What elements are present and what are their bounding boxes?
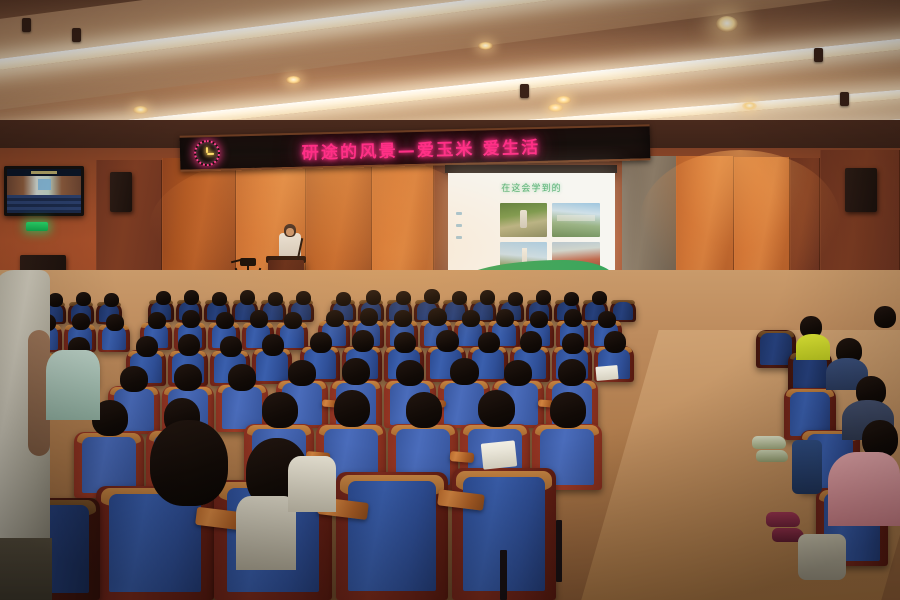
- audience-head: [394, 310, 412, 327]
- led-clock-icon: [194, 140, 221, 167]
- audience-head: [564, 292, 579, 306]
- audience-head: [72, 313, 90, 330]
- notebook-paper: [595, 365, 618, 381]
- audience-head: [504, 360, 532, 386]
- ceiling-speaker-icon: [814, 48, 823, 62]
- audience-head: [250, 310, 268, 328]
- monitor-feed-seats: [7, 195, 81, 213]
- audience-head: [530, 311, 548, 328]
- ceiling-speaker-icon: [22, 18, 31, 32]
- ceiling-downlight: [548, 104, 563, 112]
- audience-head: [558, 359, 586, 386]
- wall-panel-grey: [622, 156, 676, 288]
- audience-head: [366, 290, 381, 305]
- audience-head: [480, 290, 495, 305]
- audience-head: [48, 293, 63, 307]
- audience-head: [326, 310, 344, 327]
- screen-top-bar: [445, 165, 617, 173]
- audience-head: [396, 360, 424, 386]
- audience-head: [450, 358, 479, 385]
- audience-head: [106, 314, 124, 331]
- audience-head: [406, 392, 442, 428]
- audience-head: [508, 292, 523, 306]
- audience-head: [148, 312, 166, 329]
- audience-head: [598, 311, 616, 328]
- audience-head: [268, 292, 283, 306]
- audience-head: [76, 292, 91, 306]
- audience-paper-notes: [288, 456, 336, 512]
- audience-head: [262, 392, 298, 428]
- seat-leg: [556, 520, 562, 582]
- slide-bullet: [456, 224, 462, 227]
- audience-head: [284, 312, 302, 329]
- ceiling-downlight: [742, 102, 757, 110]
- audience-head: [334, 390, 370, 427]
- audience-head: [424, 289, 440, 304]
- audience-head-foreground: [150, 420, 228, 506]
- audience-legs: [798, 534, 846, 580]
- audience-head: [182, 310, 200, 328]
- monitor-feed-stage: [7, 176, 81, 194]
- audience-head: [550, 392, 586, 428]
- audience-head: [216, 312, 234, 329]
- audience-head: [604, 331, 626, 353]
- audience-head: [428, 308, 447, 326]
- audience-head: [220, 336, 242, 357]
- video-camera-icon: [240, 258, 256, 266]
- audience-head: [536, 290, 551, 305]
- audience-head: [874, 306, 896, 328]
- slide-bullet-list: [456, 212, 462, 239]
- wall-monitor: [4, 166, 84, 216]
- audience-head: [360, 308, 378, 326]
- left-wall-speaker-icon: [110, 172, 132, 212]
- audience-head: [436, 330, 459, 352]
- audience-torso-yellow-shirt: [796, 334, 830, 360]
- ceiling-downlight: [556, 96, 571, 104]
- audience-head: [184, 290, 199, 305]
- audience-head: [496, 309, 514, 327]
- audience-head: [462, 310, 480, 327]
- audience-head: [156, 291, 171, 305]
- monitor-feed-topbar: [7, 169, 81, 176]
- presenter-face: [286, 228, 294, 236]
- audience-head: [120, 366, 148, 392]
- audience-head: [228, 364, 256, 391]
- audience-head: [520, 331, 542, 353]
- slide-photo: [500, 203, 548, 237]
- audience-head: [240, 290, 255, 305]
- ceiling-speaker-icon: [840, 92, 849, 106]
- audience-head: [174, 364, 202, 391]
- audience-torso-pink-shirt: [828, 452, 900, 526]
- ceiling-downlight: [478, 42, 493, 50]
- audience-head: [396, 291, 411, 305]
- ceiling-speaker-icon: [72, 28, 81, 42]
- ceiling-downlight: [133, 106, 148, 114]
- audience-head: [336, 292, 351, 306]
- slide-title: 在这会学到的: [448, 181, 615, 194]
- audience-head: [136, 336, 158, 357]
- audience-head: [296, 291, 311, 305]
- seat-armrest: [450, 451, 475, 463]
- right-wall-speaker-icon: [845, 168, 877, 212]
- audience-head: [262, 334, 284, 356]
- slide-photo: [552, 203, 600, 237]
- audience-head: [564, 309, 582, 327]
- exit-sign: [26, 222, 48, 231]
- audience-head: [178, 334, 200, 356]
- slide-bullet: [456, 236, 462, 239]
- notebook-paper: [481, 440, 518, 469]
- audience-legs: [792, 440, 822, 494]
- slide-bullet: [456, 212, 462, 215]
- shoe: [766, 512, 800, 527]
- audience-head: [592, 291, 607, 305]
- audience-head: [104, 293, 119, 307]
- foreground-person-trousers: [0, 538, 52, 600]
- shoe: [752, 436, 786, 449]
- auditorium-photo: 研途的风景—爱玉米 爱生活 在这会学到的 MAIZE: [0, 0, 900, 600]
- led-banner-text: 研途的风景—爱玉米 爱生活: [220, 130, 650, 165]
- audience-head: [478, 332, 500, 353]
- audience-head: [478, 390, 515, 427]
- seat: [336, 472, 448, 600]
- monitor-screen: [7, 169, 81, 213]
- ceiling-downlight: [286, 76, 301, 84]
- ceiling-speaker-icon: [520, 84, 529, 98]
- audience-torso-green-shirt: [46, 350, 100, 420]
- audience-head: [394, 332, 416, 353]
- shoe: [756, 450, 788, 462]
- audience-head: [352, 330, 374, 352]
- ceiling-downlight: [716, 16, 738, 32]
- audience-head: [342, 358, 370, 385]
- audience-head: [452, 291, 467, 305]
- seat-leg: [500, 550, 507, 600]
- audience-head: [310, 332, 332, 353]
- audience-head: [212, 292, 227, 306]
- audience-torso-cream-shirt: [236, 496, 296, 570]
- audience-head: [562, 333, 584, 354]
- audience-head: [288, 360, 316, 386]
